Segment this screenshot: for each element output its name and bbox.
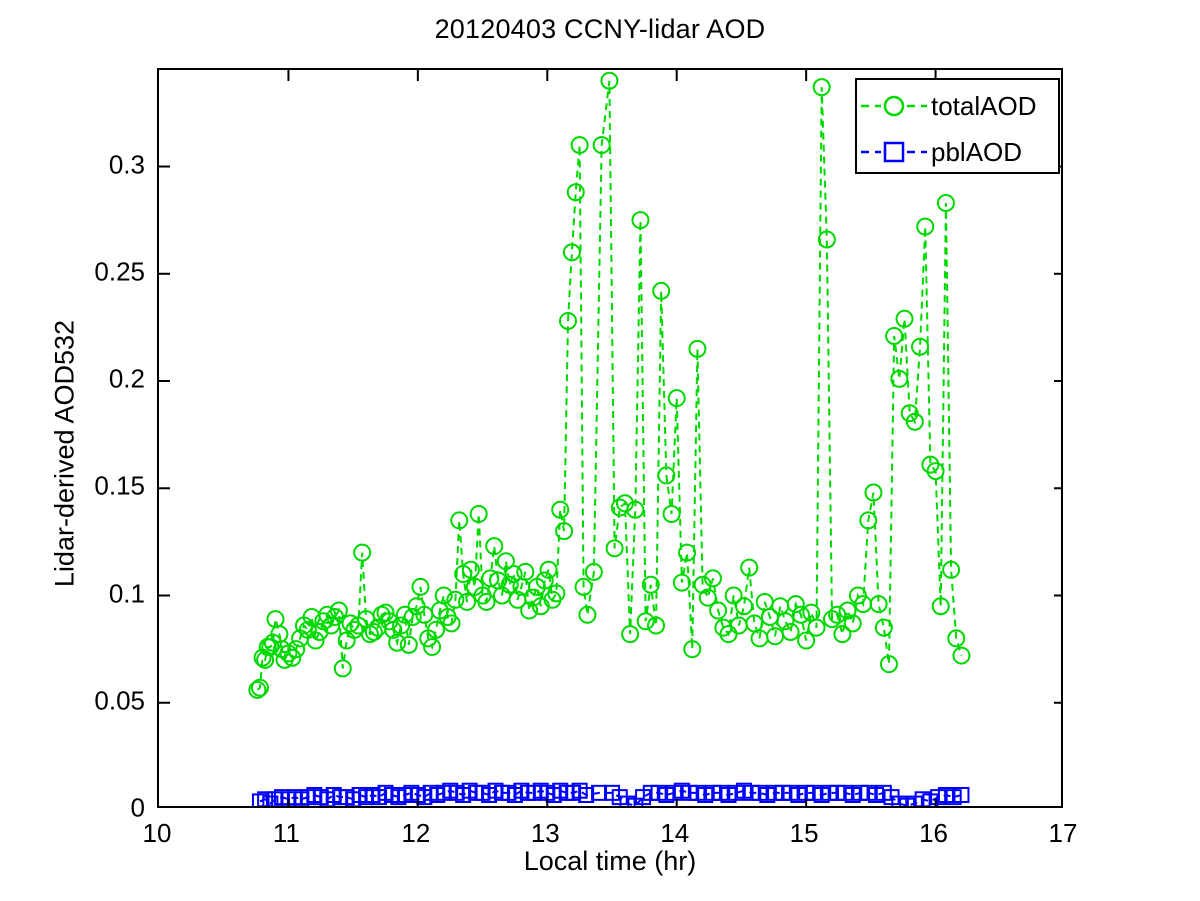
chart-title: 20120403 CCNY-lidar AOD <box>0 14 1200 45</box>
y-tick-label: 0.2 <box>109 364 145 395</box>
data-point <box>834 626 850 642</box>
y-tick-label: 0.05 <box>94 685 145 716</box>
x-tick-label: 13 <box>531 818 560 849</box>
legend-label-pblaod: pblAOD <box>931 139 1022 165</box>
x-tick-label: 12 <box>401 818 430 849</box>
plot-svg <box>159 70 1063 808</box>
x-tick-label: 14 <box>660 818 689 849</box>
y-tick-label: 0.15 <box>94 471 145 502</box>
x-tick-label: 11 <box>273 818 300 849</box>
y-axis-label: Lidar-derived AOD532 <box>50 244 81 664</box>
legend-item-pblaod[interactable]: pblAOD <box>857 128 1062 176</box>
x-tick-label: 15 <box>790 818 819 849</box>
y-tick-label: 0.25 <box>94 256 145 287</box>
y-tick-label: 0.3 <box>109 149 145 180</box>
plot-area[interactable] <box>157 68 1063 808</box>
legend-swatch-circle-icon <box>857 86 931 126</box>
axis-ticks-layer <box>159 70 1063 808</box>
series-layer <box>249 73 969 808</box>
legend-label-totalaod: totalAOD <box>931 93 1037 119</box>
y-tick-label: 0.1 <box>109 578 145 609</box>
x-tick-label: 17 <box>1049 818 1078 849</box>
x-tick-label: 10 <box>143 818 172 849</box>
figure-canvas: 20120403 CCNY-lidar AOD 00.050.10.150.20… <box>0 0 1200 901</box>
x-tick-label: 16 <box>919 818 948 849</box>
x-axis-label: Local time (hr) <box>157 846 1063 877</box>
legend-item-totalaod[interactable]: totalAOD <box>857 82 1062 130</box>
legend-box[interactable]: totalAOD pblAOD <box>855 78 1060 174</box>
legend-swatch-square-icon <box>857 132 931 172</box>
series-pblAOD <box>253 784 969 808</box>
